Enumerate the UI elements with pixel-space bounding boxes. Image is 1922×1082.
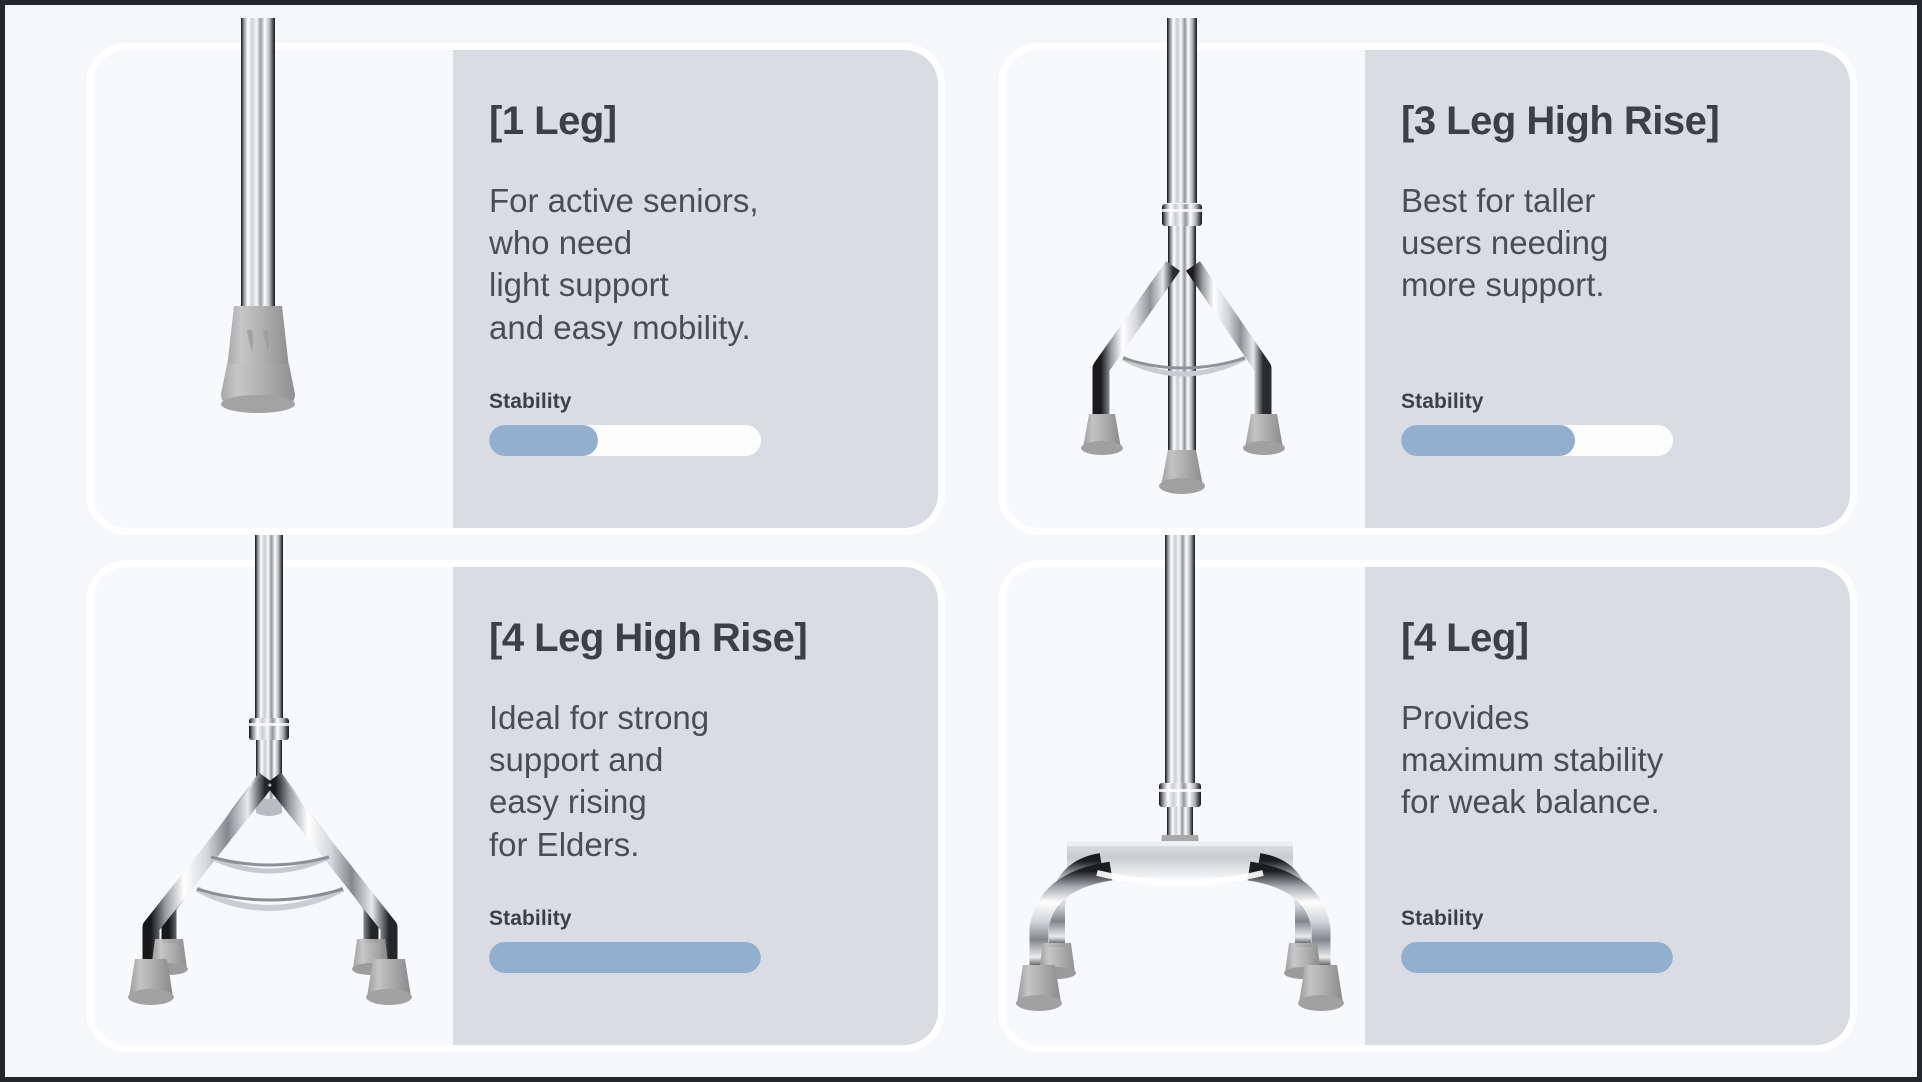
stability-meter: Stability (1401, 907, 1673, 973)
cane-info-one-leg: [1 Leg] For active seniors, who need lig… (453, 50, 938, 528)
card-description: Provides maximum stability for weak bala… (1401, 697, 1814, 824)
card-description: For active seniors, who need light suppo… (489, 180, 902, 349)
cane-4-leg-icon (1005, 555, 1365, 1055)
cane-visual-one-leg (93, 50, 453, 528)
card-description: Best for taller users needing more suppo… (1401, 180, 1814, 307)
card-description: Ideal for strong support and easy rising… (489, 697, 902, 866)
stability-fill (489, 425, 598, 456)
stability-track (1401, 942, 1673, 973)
cane-3-leg-high-rise-icon (1005, 38, 1365, 538)
cane-info-three-leg-high-rise: [3 Leg High Rise] Best for taller users … (1365, 50, 1850, 528)
cane-1-leg-icon (93, 38, 453, 538)
cane-visual-four-leg-high-rise (93, 567, 453, 1045)
cane-visual-four-leg (1005, 567, 1365, 1045)
stability-track (1401, 425, 1673, 456)
stability-track (489, 425, 761, 456)
cane-info-four-leg-high-rise: [4 Leg High Rise] Ideal for strong suppo… (453, 567, 938, 1045)
card-title: [4 Leg] (1401, 617, 1814, 659)
cane-4-leg-high-rise-icon (93, 555, 453, 1055)
cane-info-four-leg: [4 Leg] Provides maximum stability for w… (1365, 567, 1850, 1045)
cane-card-three-leg-high-rise[interactable]: [3 Leg High Rise] Best for taller users … (1005, 50, 1850, 528)
stability-meter: Stability (1401, 390, 1673, 456)
card-title: [1 Leg] (489, 100, 902, 142)
stability-label: Stability (489, 390, 761, 414)
stability-label: Stability (489, 907, 761, 931)
cane-visual-three-leg-high-rise (1005, 50, 1365, 528)
stability-label: Stability (1401, 390, 1673, 414)
stability-meter: Stability (489, 907, 761, 973)
stability-fill (489, 942, 761, 973)
stability-meter: Stability (489, 390, 761, 456)
stability-track (489, 942, 761, 973)
stability-label: Stability (1401, 907, 1673, 931)
cane-card-four-leg[interactable]: [4 Leg] Provides maximum stability for w… (1005, 567, 1850, 1045)
stability-fill (1401, 425, 1575, 456)
cane-card-one-leg[interactable]: [1 Leg] For active seniors, who need lig… (93, 50, 938, 528)
cane-card-four-leg-high-rise[interactable]: [4 Leg High Rise] Ideal for strong suppo… (93, 567, 938, 1045)
stability-fill (1401, 942, 1673, 973)
card-title: [4 Leg High Rise] (489, 617, 902, 659)
card-title: [3 Leg High Rise] (1401, 100, 1814, 142)
page-frame: [1 Leg] For active seniors, who need lig… (0, 0, 1922, 1082)
cane-comparison-grid: [1 Leg] For active seniors, who need lig… (5, 5, 1917, 1077)
